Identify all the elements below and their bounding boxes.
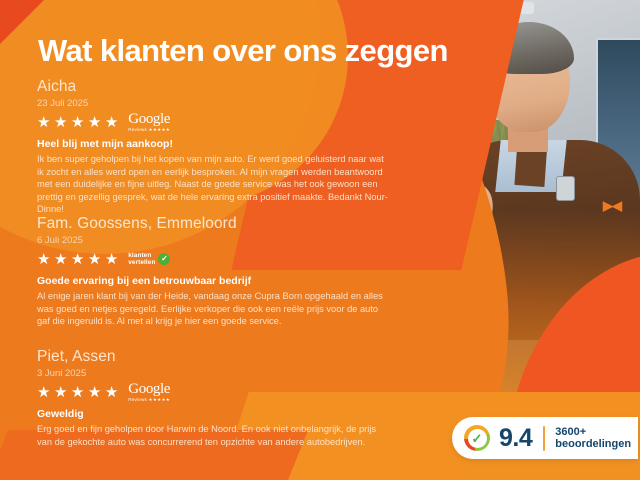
review-title: Heel blij met mijn aankoop! — [37, 138, 409, 151]
google-reviews-sublabel: Reviews ★★★★★ — [128, 128, 170, 133]
review-title: Geweldig — [37, 408, 409, 421]
star-icon: ★ — [71, 385, 84, 400]
reviewer-name: Fam. Goossens, Emmeloord — [37, 215, 409, 233]
rating-count: 3600+ — [555, 426, 631, 439]
star-rating: ★ ★ ★ ★ ★ — [37, 115, 118, 130]
google-reviews-logo: Google Reviews ★★★★★ — [128, 382, 170, 403]
review-rating-row: ★ ★ ★ ★ ★ klanten vertellen ✓ — [37, 251, 409, 267]
star-icon: ★ — [105, 385, 118, 400]
star-icon: ★ — [54, 115, 67, 130]
review-title: Goede ervaring bij een betrouwbaar bedri… — [37, 275, 409, 288]
review-item: Piet, Assen 3 Juni 2025 ★ ★ ★ ★ ★ Google… — [37, 348, 409, 448]
review-rating-row: ★ ★ ★ ★ ★ Google Reviews ★★★★★ — [37, 384, 409, 400]
review-item: Aicha 23 Juli 2025 ★ ★ ★ ★ ★ Google Revi… — [37, 78, 409, 216]
google-wordmark: Google — [128, 382, 170, 397]
check-icon: ✓ — [468, 429, 487, 448]
star-icon: ★ — [105, 115, 118, 130]
content-layer: Wat klanten over ons zeggen Aicha 23 Jul… — [0, 0, 640, 480]
rating-badge: ✓ 9.4 3600+ beoordelingen — [452, 417, 638, 459]
review-body: Erg goed en fijn geholpen door Harwin de… — [37, 423, 389, 448]
page-title: Wat klanten over ons zeggen — [38, 33, 448, 69]
review-body: Ik ben super geholpen bij het kopen van … — [37, 153, 389, 216]
star-icon: ★ — [88, 252, 101, 267]
google-wordmark: Google — [128, 112, 170, 127]
star-icon: ★ — [54, 385, 67, 400]
review-body: Al enige jaren klant bij van der Heide, … — [37, 290, 389, 328]
rating-score: 9.4 — [499, 424, 532, 453]
klantenvertellen-wordmark: klanten vertellen — [128, 252, 155, 266]
promo-banner: ▶◀ Wat klanten over ons zeggen Aicha 23 … — [0, 0, 640, 480]
google-reviews-sublabel: Reviews ★★★★★ — [128, 398, 170, 403]
klantenvertellen-line-2: vertellen — [128, 259, 155, 266]
check-badge-icon: ✓ — [158, 253, 170, 265]
star-rating: ★ ★ ★ ★ ★ — [37, 252, 118, 267]
review-rating-row: ★ ★ ★ ★ ★ Google Reviews ★★★★★ — [37, 114, 409, 130]
review-date: 23 Juli 2025 — [37, 97, 409, 110]
klantenvertellen-seal-icon: ✓ — [464, 425, 490, 451]
reviewer-name: Piet, Assen — [37, 348, 409, 366]
star-icon: ★ — [37, 252, 50, 267]
review-date: 6 Juli 2025 — [37, 234, 409, 247]
rating-meta: 3600+ beoordelingen — [555, 426, 631, 451]
star-icon: ★ — [54, 252, 67, 267]
badge-divider — [543, 426, 545, 451]
star-icon: ★ — [37, 115, 50, 130]
google-reviews-logo: Google Reviews ★★★★★ — [128, 112, 170, 133]
klantenvertellen-logo: klanten vertellen ✓ — [128, 252, 170, 266]
star-icon: ★ — [88, 115, 101, 130]
star-icon: ★ — [105, 252, 118, 267]
star-icon: ★ — [71, 252, 84, 267]
reviewer-name: Aicha — [37, 78, 409, 96]
star-icon: ★ — [71, 115, 84, 130]
star-icon: ★ — [88, 385, 101, 400]
star-rating: ★ ★ ★ ★ ★ — [37, 385, 118, 400]
review-date: 3 Juni 2025 — [37, 367, 409, 380]
rating-count-label: beoordelingen — [555, 438, 631, 451]
star-icon: ★ — [37, 385, 50, 400]
klantenvertellen-line-1: klanten — [128, 252, 155, 259]
review-item: Fam. Goossens, Emmeloord 6 Juli 2025 ★ ★… — [37, 215, 409, 328]
